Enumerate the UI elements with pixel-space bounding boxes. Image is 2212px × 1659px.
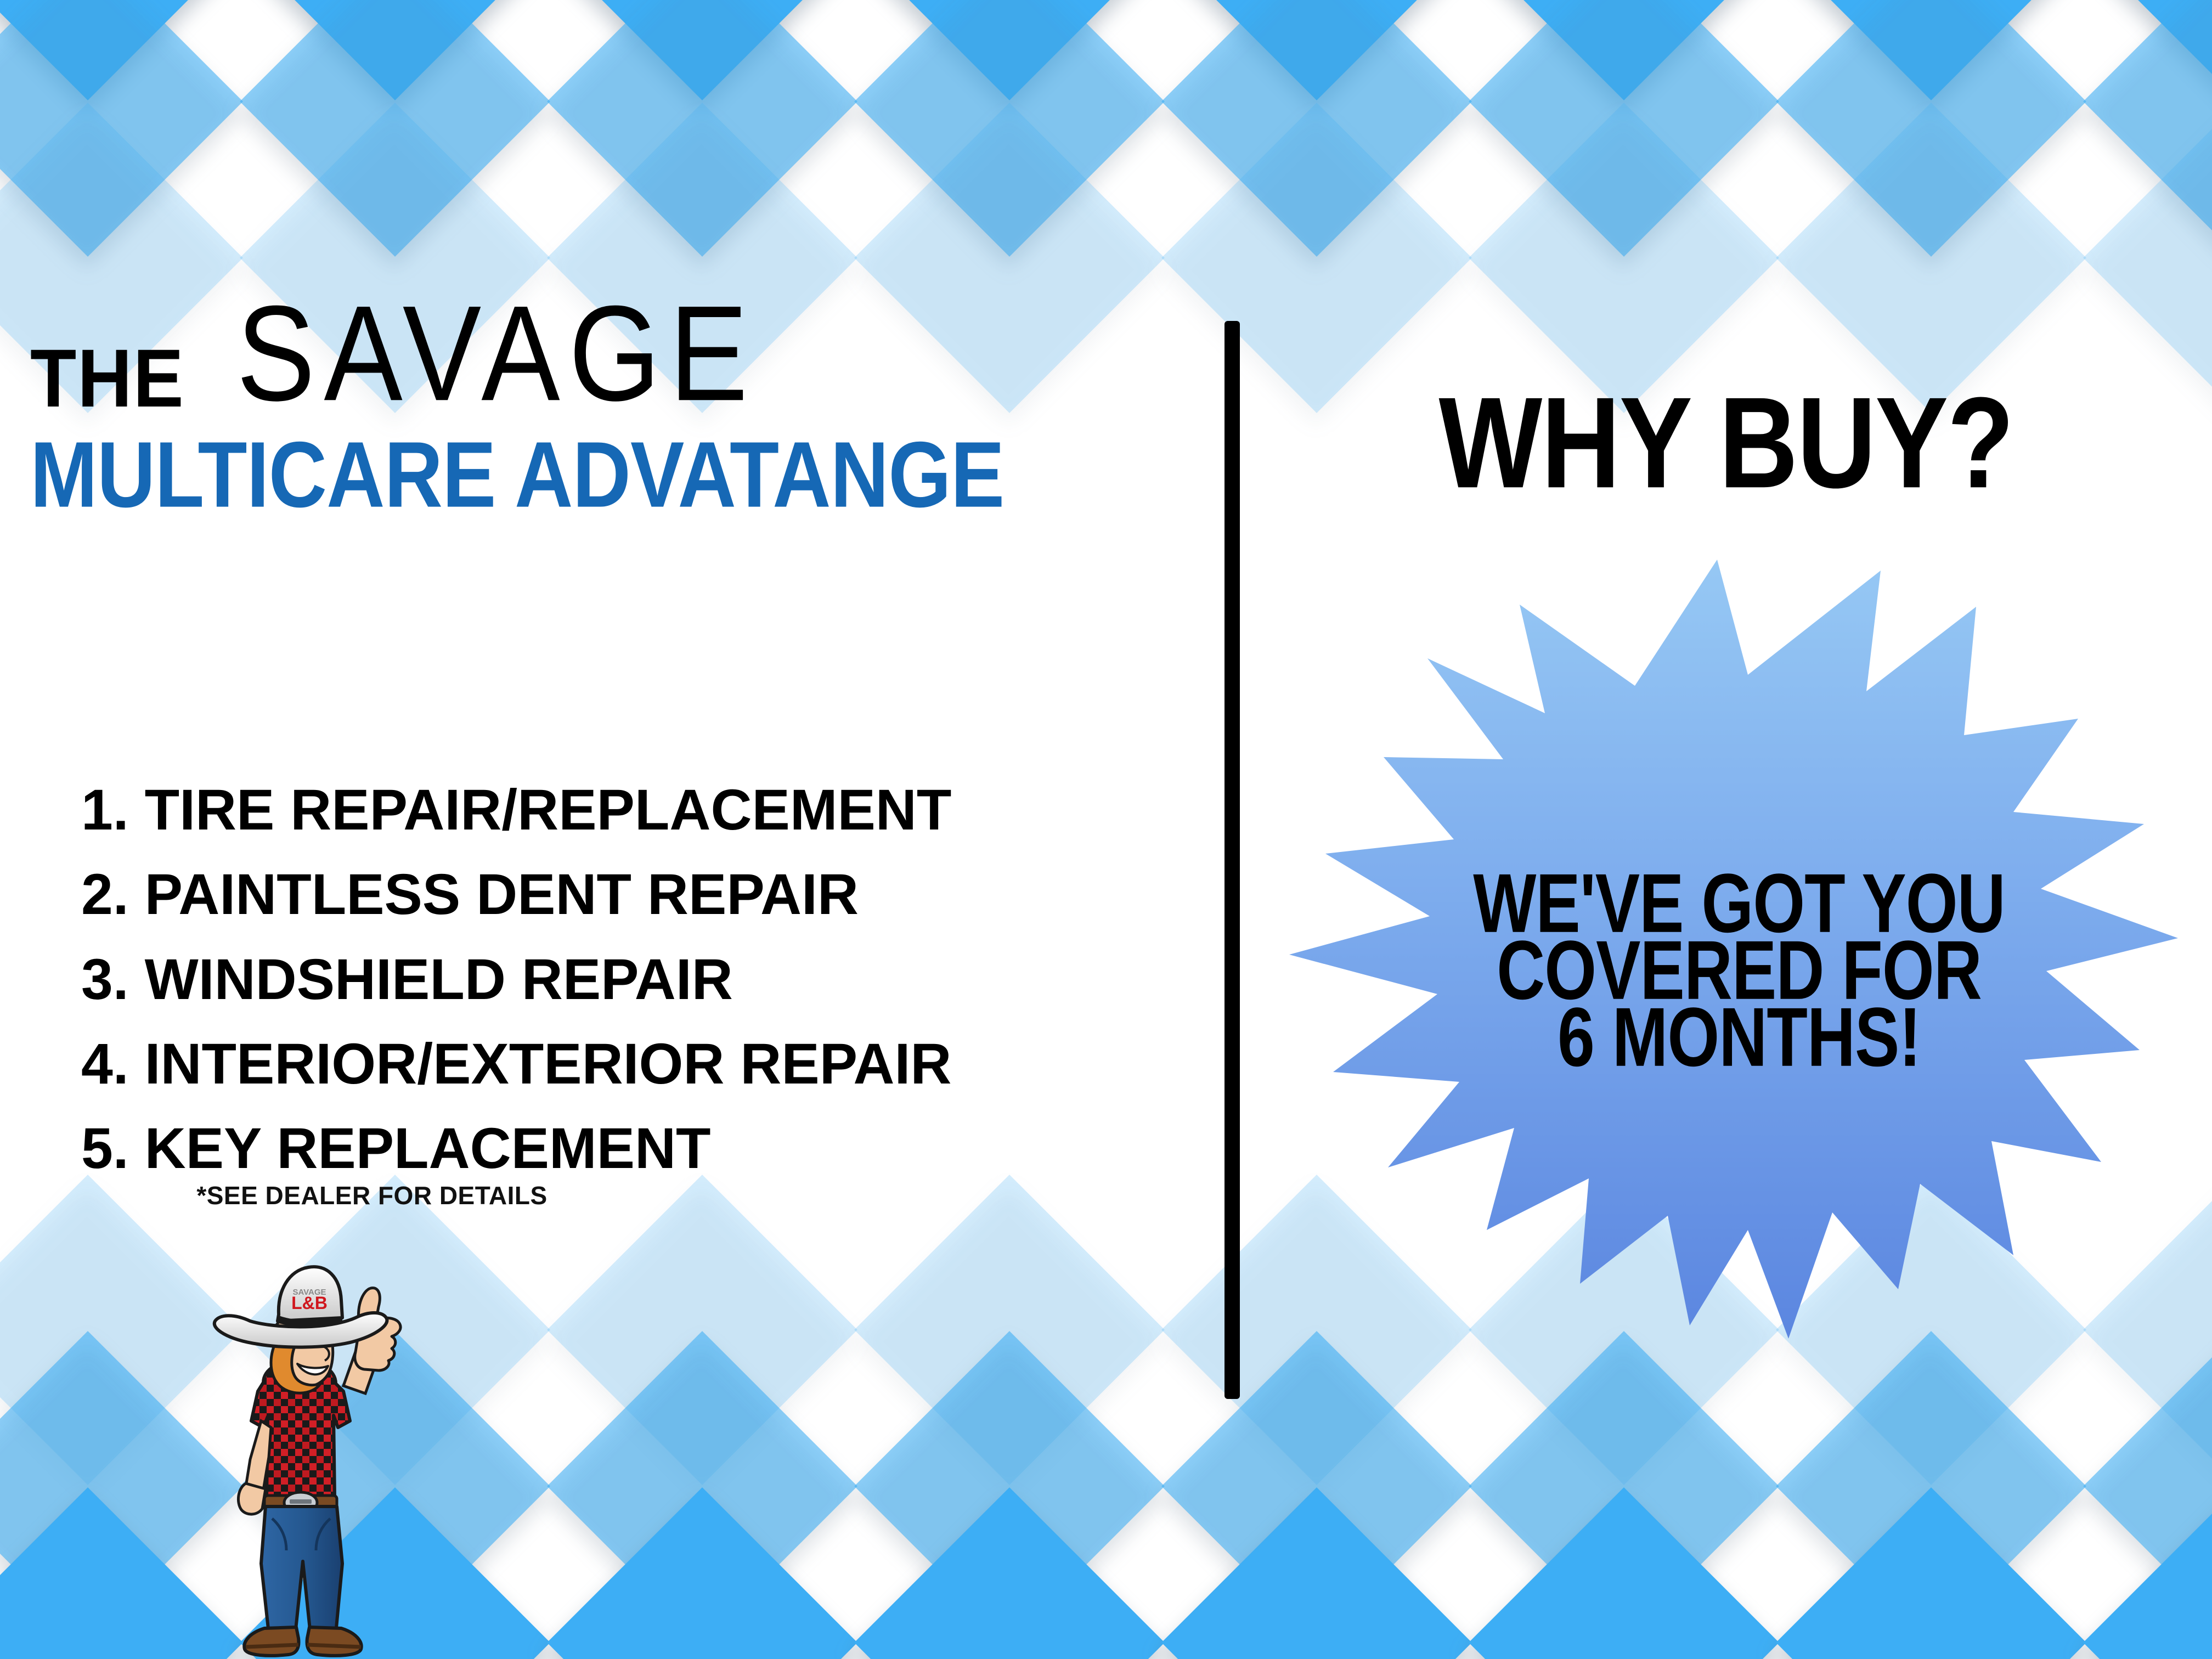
left-panel: THE SAVAGE MULTICARE ADVATANGE 1. TIRE R… xyxy=(0,0,1212,1659)
vertical-divider xyxy=(1224,321,1240,1399)
services-list: 1. TIRE REPAIR/REPLACEMENT 2. PAINTLESS … xyxy=(81,768,1151,1192)
poster-canvas: THE SAVAGE MULTICARE ADVATANGE 1. TIRE R… xyxy=(0,0,2212,1659)
burst-line-3: 6 MONTHS! xyxy=(1284,995,2194,1079)
brand-program-name: MULTICARE ADVATANGE xyxy=(30,421,1126,529)
brand-heading-line-1: THE SAVAGE xyxy=(30,307,1160,416)
list-item: 2. PAINTLESS DENT REPAIR xyxy=(81,853,1141,937)
list-item: 1. TIRE REPAIR/REPLACEMENT xyxy=(81,768,1141,853)
mascot-cowboy-illustration: SAVAGE L&B xyxy=(181,1256,422,1659)
list-item: 4. INTERIOR/EXTERIOR REPAIR xyxy=(81,1022,1141,1107)
brand-heading: THE SAVAGE MULTICARE ADVATANGE xyxy=(30,307,1160,517)
starburst-badge: WE'VE GOT YOU COVERED FOR 6 MONTHS! xyxy=(1284,554,2194,1366)
list-item: 5. KEY REPLACEMENT xyxy=(81,1107,1141,1191)
mascot-jeans xyxy=(261,1506,342,1635)
hat-logo-lb-text: L&B xyxy=(291,1293,328,1313)
right-panel: WHY BUY? WE'VE GOT YOU COVERED FOR 6 MON… xyxy=(1240,0,2212,1659)
starburst-message: WE'VE GOT YOU COVERED FOR 6 MONTHS! xyxy=(1284,861,2194,1062)
page-title-why-buy: WHY BUY? xyxy=(1240,379,2212,508)
brand-the-word: THE xyxy=(30,340,185,416)
disclaimer-text: *SEE DEALER FOR DETAILS xyxy=(81,1181,663,1210)
mascot-boots xyxy=(244,1627,361,1656)
list-item: 3. WINDSHIELD REPAIR xyxy=(81,938,1141,1022)
brand-name-savage: SAVAGE xyxy=(236,291,757,415)
